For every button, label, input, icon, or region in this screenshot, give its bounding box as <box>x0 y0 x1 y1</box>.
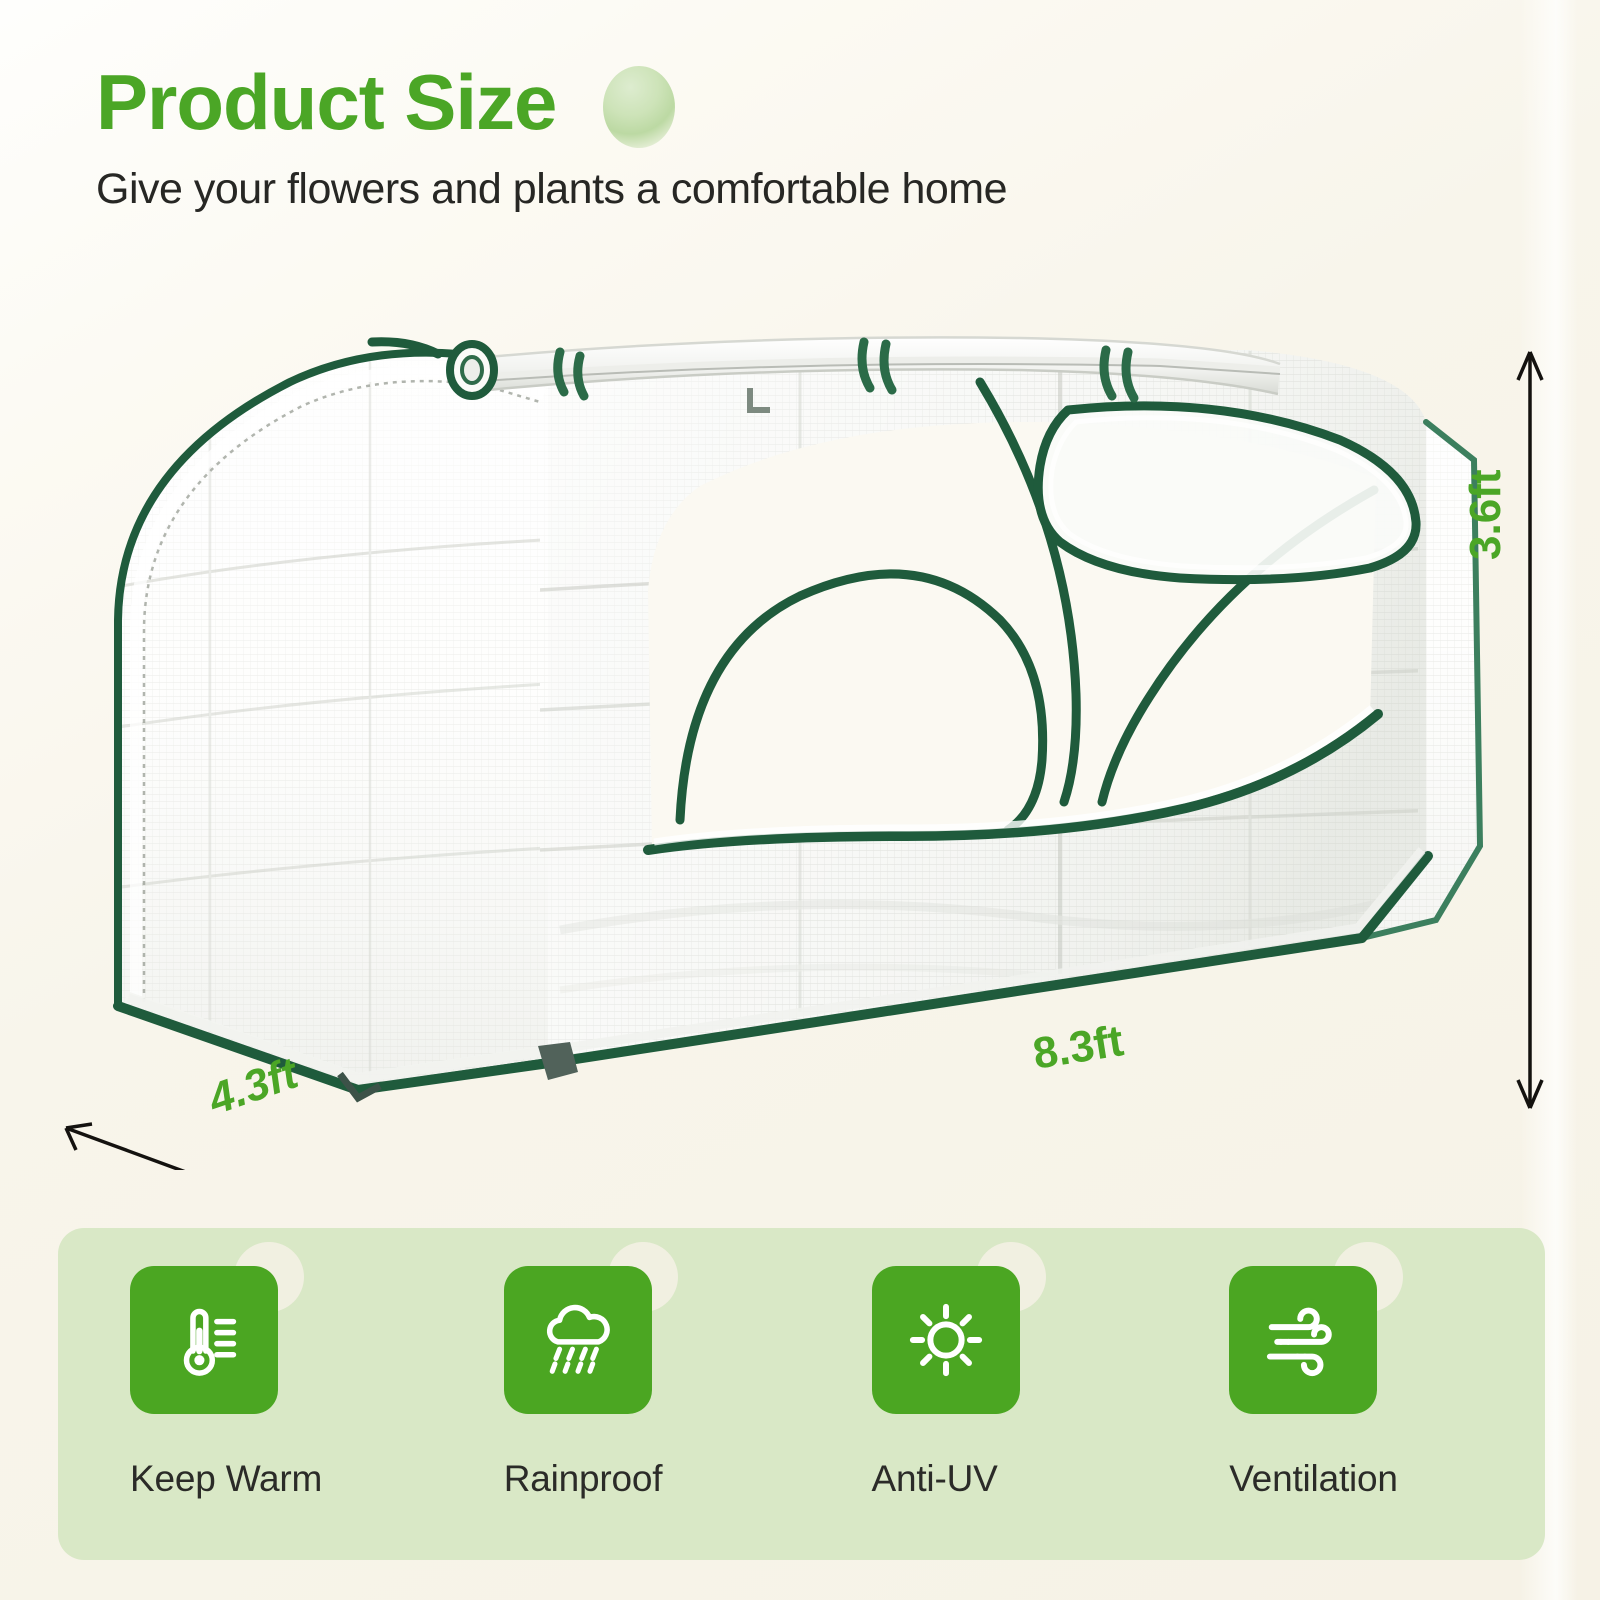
feature-label: Anti-UV <box>872 1458 1188 1500</box>
dimension-label-height: 3.6ft <box>1461 470 1511 560</box>
sun-icon <box>872 1266 1020 1414</box>
feature-tile-wrap <box>504 1266 652 1414</box>
feature-label: Keep Warm <box>130 1458 446 1500</box>
page-title: Product Size <box>96 62 556 144</box>
title-leaf-blob-icon <box>603 66 675 148</box>
feature-rainproof: Rainproof <box>446 1228 820 1500</box>
feature-keep-warm: Keep Warm <box>58 1228 446 1500</box>
page-subtitle: Give your flowers and plants a comfortab… <box>96 166 1396 213</box>
feature-label: Ventilation <box>1229 1458 1545 1500</box>
feature-label: Rainproof <box>504 1458 820 1500</box>
wind-icon <box>1229 1266 1377 1414</box>
title-wrap: Product Size <box>96 62 556 144</box>
feature-tile-wrap <box>1229 1266 1377 1414</box>
dimension-arrow-height <box>1518 352 1542 1108</box>
features-row: Keep Warm Rainproof <box>58 1228 1545 1560</box>
greenhouse-left-end <box>100 348 580 1090</box>
greenhouse-drawing <box>40 290 1560 1170</box>
feature-ventilation: Ventilation <box>1187 1228 1545 1500</box>
cloud-rain-icon <box>504 1266 652 1414</box>
features-panel: Keep Warm Rainproof <box>58 1228 1545 1560</box>
feature-anti-uv: Anti-UV <box>820 1228 1188 1500</box>
feature-tile-wrap <box>130 1266 278 1414</box>
header: Product Size Give your flowers and plant… <box>96 62 1396 213</box>
feature-tile-wrap <box>872 1266 1020 1414</box>
dimension-arrow-depth <box>66 1124 512 1170</box>
thermometer-icon <box>130 1266 278 1414</box>
product-illustration <box>40 290 1560 1170</box>
